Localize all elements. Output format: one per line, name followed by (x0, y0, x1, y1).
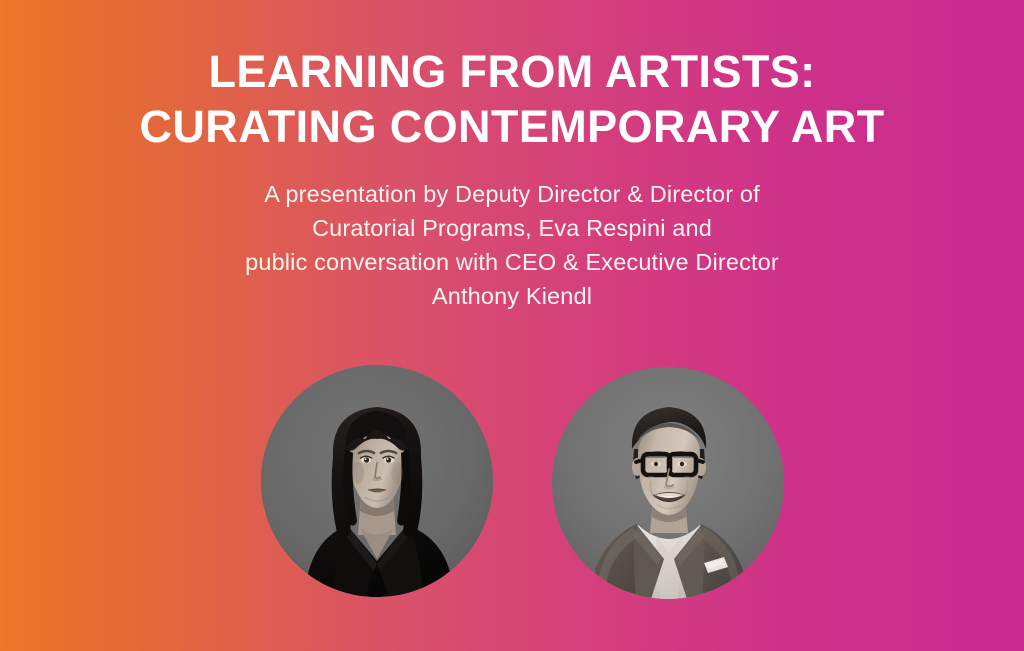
subtitle: A presentation by Deputy Director & Dire… (0, 177, 1024, 313)
presentation-slide: LEARNING FROM ARTISTS: CURATING CONTEMPO… (0, 0, 1024, 651)
subtitle-line-3: public conversation with CEO & Executive… (0, 245, 1024, 279)
page-title: LEARNING FROM ARTISTS: CURATING CONTEMPO… (0, 44, 1024, 154)
avatar-anthony-kiendl (552, 367, 784, 599)
title-line-2: CURATING CONTEMPORARY ART (0, 99, 1024, 154)
subtitle-line-4: Anthony Kiendl (0, 279, 1024, 313)
subtitle-line-1: A presentation by Deputy Director & Dire… (0, 177, 1024, 211)
title-line-1: LEARNING FROM ARTISTS: (0, 44, 1024, 99)
subtitle-line-2: Curatorial Programs, Eva Respini and (0, 211, 1024, 245)
avatar-eva-respini (261, 365, 493, 597)
